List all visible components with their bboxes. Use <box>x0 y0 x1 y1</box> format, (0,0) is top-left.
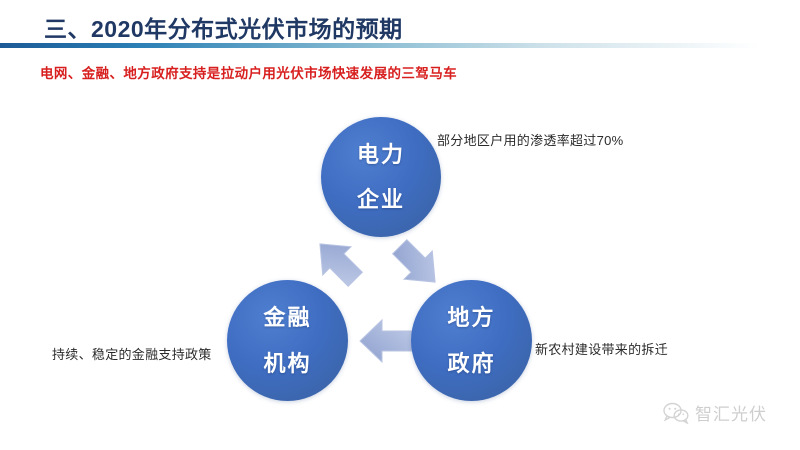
diagram-node-government[interactable]: 地方 政府 <box>411 280 532 401</box>
subtitle-text: 电网、金融、地方政府支持是拉动户用光伏市场快速发展的三驾马车 <box>40 62 457 82</box>
diagram-node-finance-line1: 金融 <box>263 306 311 329</box>
page-title: 三、2020年分布式光伏市场的预期 <box>44 10 403 44</box>
title-divider <box>0 43 760 48</box>
arrow-power-to-government-icon <box>383 232 449 294</box>
diagram-node-government-line1: 地方 <box>447 306 495 329</box>
diagram-node-government-line2: 政府 <box>447 352 495 375</box>
diagram-node-finance[interactable]: 金融 机构 <box>227 280 348 401</box>
diagram-node-finance-line2: 机构 <box>263 352 311 375</box>
watermark: 智汇光伏 <box>663 400 767 425</box>
annotation-government: 新农村建设带来的拆迁 <box>535 339 668 358</box>
annotation-power: 部分地区户用的渗透率超过70% <box>437 130 624 149</box>
diagram-node-power[interactable]: 电力 企业 <box>321 117 441 237</box>
diagram-node-power-line1: 电力 <box>357 143 405 166</box>
slide-canvas: 三、2020年分布式光伏市场的预期 电网、金融、地方政府支持是拉动户用光伏市场快… <box>0 0 800 450</box>
watermark-label: 智汇光伏 <box>695 400 767 425</box>
arrow-government-to-finance-icon <box>356 315 418 367</box>
arrow-finance-to-power-icon <box>306 232 372 294</box>
diagram-node-power-line2: 企业 <box>357 188 405 211</box>
annotation-finance: 持续、稳定的金融支持政策 <box>52 344 212 363</box>
wechat-icon <box>663 402 689 424</box>
